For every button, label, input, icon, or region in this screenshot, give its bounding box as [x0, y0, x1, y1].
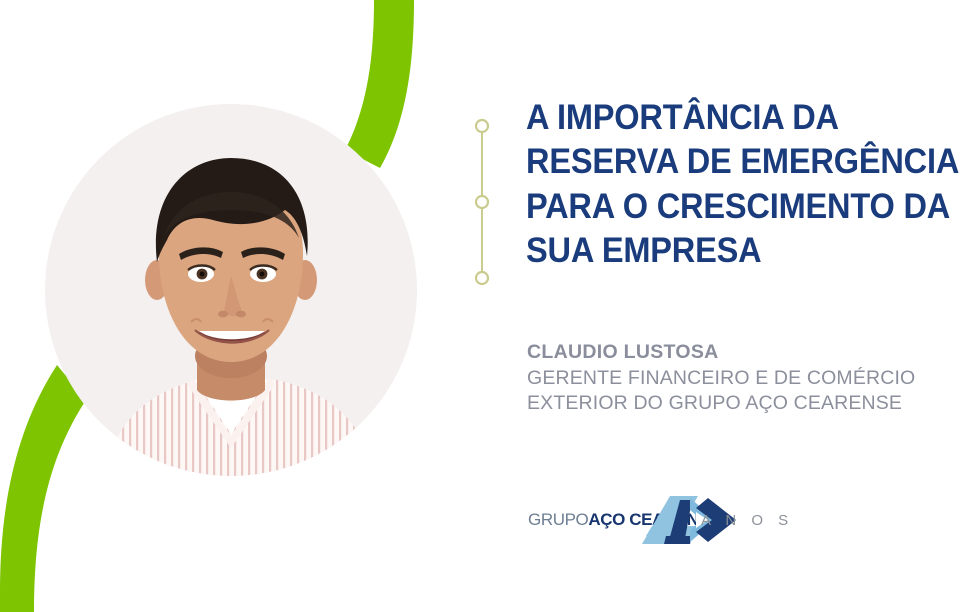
dot-rule-circle-top	[476, 120, 488, 132]
dot-rule-circle-middle	[476, 196, 488, 208]
speaker-role-line-1: GERENTE FINANCEIRO E DE COMÉRCIO	[527, 366, 957, 392]
headline-line-2: RESERVA DE EMERGÊNCIA	[526, 140, 926, 184]
brand-logo-grupo: GRUPO	[528, 510, 588, 529]
speaker-name: CLAUDIO LUSTOSA	[527, 340, 957, 366]
avatar	[45, 104, 417, 476]
dot-rule-circle-bottom	[476, 272, 488, 284]
byline: CLAUDIO LUSTOSA GERENTE FINANCEIRO E DE …	[527, 340, 957, 417]
headline-line-3: PARA O CRESCIMENTO DA	[526, 185, 926, 229]
brand-logo: GRUPOAÇO CEARENSE A N O S	[528, 496, 828, 552]
article-banner: A IMPORTÂNCIA DA RESERVA DE EMERGÊNCIA P…	[0, 0, 980, 612]
headline-line-1: A IMPORTÂNCIA DA	[526, 96, 926, 140]
portrait-illustration	[45, 104, 417, 476]
brand-logo-anos: A N O S	[701, 512, 794, 529]
speaker-role-line-2: EXTERIOR DO GRUPO AÇO CEARENSE	[527, 391, 957, 417]
decorative-dot-rule	[472, 112, 492, 292]
page-title: A IMPORTÂNCIA DA RESERVA DE EMERGÊNCIA P…	[526, 96, 926, 274]
headline-line-4: SUA EMPRESA	[526, 229, 926, 273]
